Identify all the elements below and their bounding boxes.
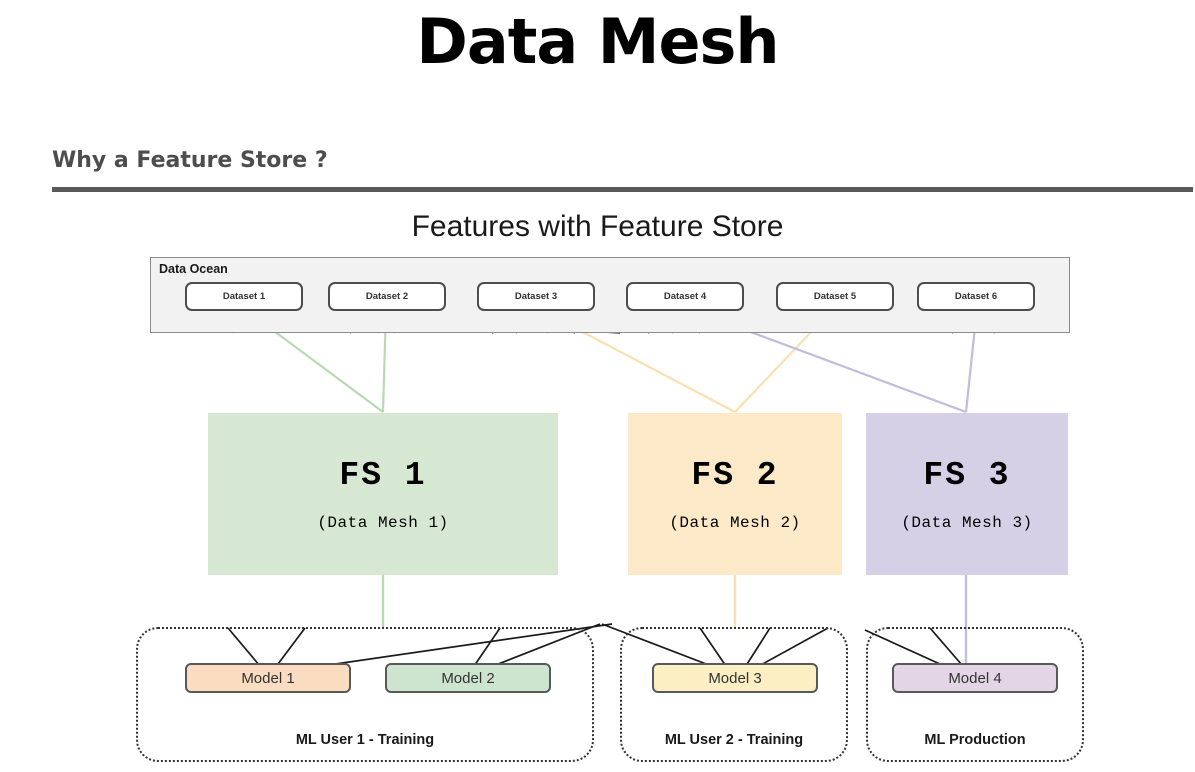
- model-box-1[interactable]: Model 1: [185, 663, 351, 693]
- section-heading: Why a Feature Store ?: [52, 148, 328, 173]
- model-group-ml-user-1: ML User 1 - Training: [136, 627, 594, 762]
- feature-store-subtitle-3: (Data Mesh 3): [901, 514, 1032, 532]
- dataset-box-2[interactable]: Dataset 2: [328, 282, 446, 311]
- model-group-ml-user-2: ML User 2 - Training: [620, 627, 848, 762]
- slide-canvas: Data Mesh Why a Feature Store ? Features…: [0, 0, 1195, 772]
- feature-store-box-2[interactable]: FS 2 (Data Mesh 2): [628, 413, 842, 575]
- data-ocean-panel: Data Ocean Dataset 1 Dataset 2 Dataset 3…: [150, 257, 1070, 333]
- feature-store-diagram: Features with Feature Store: [0, 200, 1195, 772]
- section-divider: [52, 187, 1193, 192]
- dataset-box-3[interactable]: Dataset 3: [477, 282, 595, 311]
- dataset-box-4[interactable]: Dataset 4: [626, 282, 744, 311]
- feature-store-box-3[interactable]: FS 3 (Data Mesh 3): [866, 413, 1068, 575]
- feature-store-subtitle-1: (Data Mesh 1): [317, 514, 448, 532]
- dataset-box-5[interactable]: Dataset 5: [776, 282, 894, 311]
- dataset-box-1[interactable]: Dataset 1: [185, 282, 303, 311]
- data-ocean-label: Data Ocean: [159, 262, 228, 276]
- model-box-2[interactable]: Model 2: [385, 663, 551, 693]
- page-title: Data Mesh: [0, 4, 1195, 80]
- dataset-box-6[interactable]: Dataset 6: [917, 282, 1035, 311]
- model-group-label-2: ML User 2 - Training: [622, 732, 846, 748]
- feature-store-subtitle-2: (Data Mesh 2): [669, 514, 800, 532]
- feature-store-title-3: FS 3: [923, 457, 1010, 494]
- model-group-label-1: ML User 1 - Training: [138, 732, 592, 748]
- model-group-label-3: ML Production: [868, 732, 1082, 748]
- feature-store-title-2: FS 2: [691, 457, 778, 494]
- model-box-4[interactable]: Model 4: [892, 663, 1058, 693]
- model-group-ml-production: ML Production: [866, 627, 1084, 762]
- feature-store-box-1[interactable]: FS 1 (Data Mesh 1): [208, 413, 558, 575]
- feature-store-title-1: FS 1: [339, 457, 426, 494]
- model-box-3[interactable]: Model 3: [652, 663, 818, 693]
